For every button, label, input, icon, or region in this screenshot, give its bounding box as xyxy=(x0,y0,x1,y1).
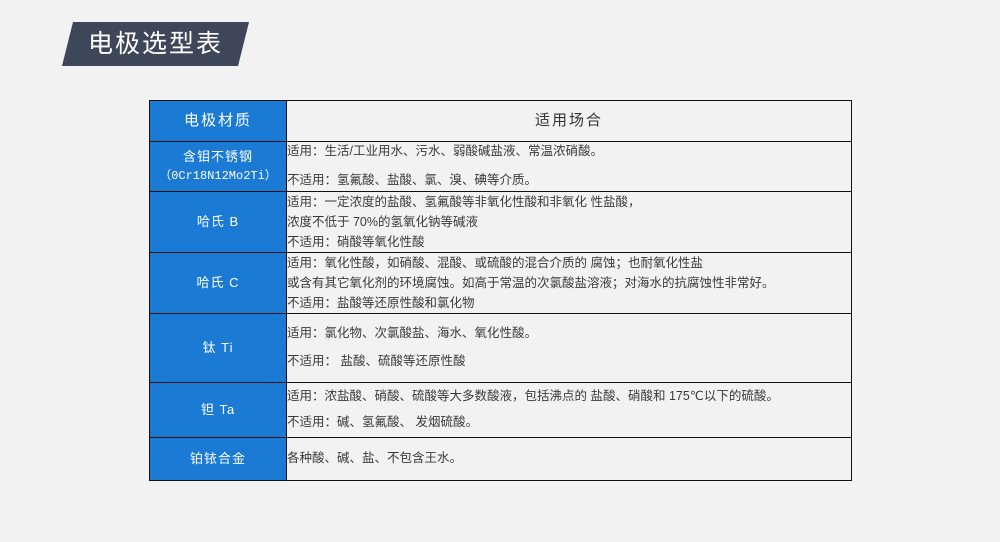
usage-line-suitable-cont: 浓度不低于 70%的氢氧化钠等碱液 xyxy=(287,212,851,232)
table-body: 电极材质 适用场合 含钼不锈钢 （0Cr18N12Mo2Ti） 适用：生活/工业… xyxy=(150,101,852,481)
material-grade: （0Cr18N12Mo2Ti） xyxy=(150,167,286,186)
material-cell-platinum-iridium: 铂铱合金 xyxy=(150,437,287,480)
material-name: 钛 Ti xyxy=(150,338,286,358)
material-cell-hastelloy-c: 哈氏 C xyxy=(150,252,287,313)
page-title-banner: 电极选型表 xyxy=(62,22,249,66)
usage-line-unsuitable: 不适用： 盐酸、硫酸等还原性酸 xyxy=(287,352,851,371)
material-name: 钽 Ta xyxy=(150,400,286,420)
usage-line-unsuitable: 不适用：盐酸等还原性酸和氯化物 xyxy=(287,293,851,313)
usage-cell-hastelloy-b: 适用：一定浓度的盐酸、氢氟酸等非氧化性酸和非氧化 性盐酸， 浓度不低于 70%的… xyxy=(287,191,852,252)
usage-cell-stainless: 适用：生活/工业用水、污水、弱酸碱盐液、常温浓硝酸。 不适用：氢氟酸、盐酸、氯、… xyxy=(287,142,852,192)
material-name: 哈氏 B xyxy=(150,212,286,232)
usage-cell-titanium: 适用：氯化物、次氯酸盐、海水、氧化性酸。 不适用： 盐酸、硫酸等还原性酸 xyxy=(287,313,852,382)
usage-line-suitable: 适用：一定浓度的盐酸、氢氟酸等非氧化性酸和非氧化 性盐酸， xyxy=(287,192,851,212)
usage-line-suitable: 各种酸、碱、盐、不包含王水。 xyxy=(287,449,851,468)
material-name: 哈氏 C xyxy=(150,273,286,293)
usage-cell-platinum-iridium: 各种酸、碱、盐、不包含王水。 xyxy=(287,437,852,480)
header-cell-material: 电极材质 xyxy=(150,101,287,142)
usage-line-unsuitable: 不适用：硝酸等氧化性酸 xyxy=(287,232,851,252)
material-cell-tantalum: 钽 Ta xyxy=(150,382,287,437)
table-row: 哈氏 C 适用：氧化性酸，如硝酸、混酸、或硫酸的混合介质的 腐蚀；也耐氧化性盐 … xyxy=(150,252,852,313)
material-name: 含钼不锈钢 xyxy=(150,147,286,167)
usage-cell-hastelloy-c: 适用：氧化性酸，如硝酸、混酸、或硫酸的混合介质的 腐蚀；也耐氧化性盐 或含有其它… xyxy=(287,252,852,313)
usage-line-suitable: 适用：生活/工业用水、污水、弱酸碱盐液、常温浓硝酸。 xyxy=(287,142,851,161)
table-row: 铂铱合金 各种酸、碱、盐、不包含王水。 xyxy=(150,437,852,480)
usage-line-suitable: 适用：氯化物、次氯酸盐、海水、氧化性酸。 xyxy=(287,324,851,343)
header-cell-usage: 适用场合 xyxy=(287,101,852,142)
table-row: 钽 Ta 适用：浓盐酸、硝酸、硫酸等大多数酸液，包括沸点的 盐酸、硝酸和 175… xyxy=(150,382,852,437)
usage-cell-tantalum: 适用：浓盐酸、硝酸、硫酸等大多数酸液，包括沸点的 盐酸、硝酸和 175℃以下的硫… xyxy=(287,382,852,437)
table-row: 哈氏 B 适用：一定浓度的盐酸、氢氟酸等非氧化性酸和非氧化 性盐酸， 浓度不低于… xyxy=(150,191,852,252)
material-cell-stainless: 含钼不锈钢 （0Cr18N12Mo2Ti） xyxy=(150,142,287,192)
table-header-row: 电极材质 适用场合 xyxy=(150,101,852,142)
table-row: 含钼不锈钢 （0Cr18N12Mo2Ti） 适用：生活/工业用水、污水、弱酸碱盐… xyxy=(150,142,852,192)
page-title: 电极选型表 xyxy=(88,32,223,57)
electrode-selection-table: 电极材质 适用场合 含钼不锈钢 （0Cr18N12Mo2Ti） 适用：生活/工业… xyxy=(149,100,852,481)
material-cell-hastelloy-b: 哈氏 B xyxy=(150,191,287,252)
material-name: 铂铱合金 xyxy=(150,449,286,469)
usage-line-suitable: 适用：氧化性酸，如硝酸、混酸、或硫酸的混合介质的 腐蚀；也耐氧化性盐 xyxy=(287,253,851,273)
table-row: 钛 Ti 适用：氯化物、次氯酸盐、海水、氧化性酸。 不适用： 盐酸、硫酸等还原性… xyxy=(150,313,852,382)
material-cell-titanium: 钛 Ti xyxy=(150,313,287,382)
usage-line-unsuitable: 不适用：氢氟酸、盐酸、氯、溴、碘等介质。 xyxy=(287,171,851,190)
usage-line-suitable-cont: 或含有其它氧化剂的环境腐蚀。如高于常温的次氯酸盐溶液；对海水的抗腐蚀性非常好。 xyxy=(287,273,851,293)
usage-line-suitable: 适用：浓盐酸、硝酸、硫酸等大多数酸液，包括沸点的 盐酸、硝酸和 175℃以下的硫… xyxy=(287,387,851,406)
usage-line-unsuitable: 不适用：碱、氢氟酸、 发烟硫酸。 xyxy=(287,413,851,432)
